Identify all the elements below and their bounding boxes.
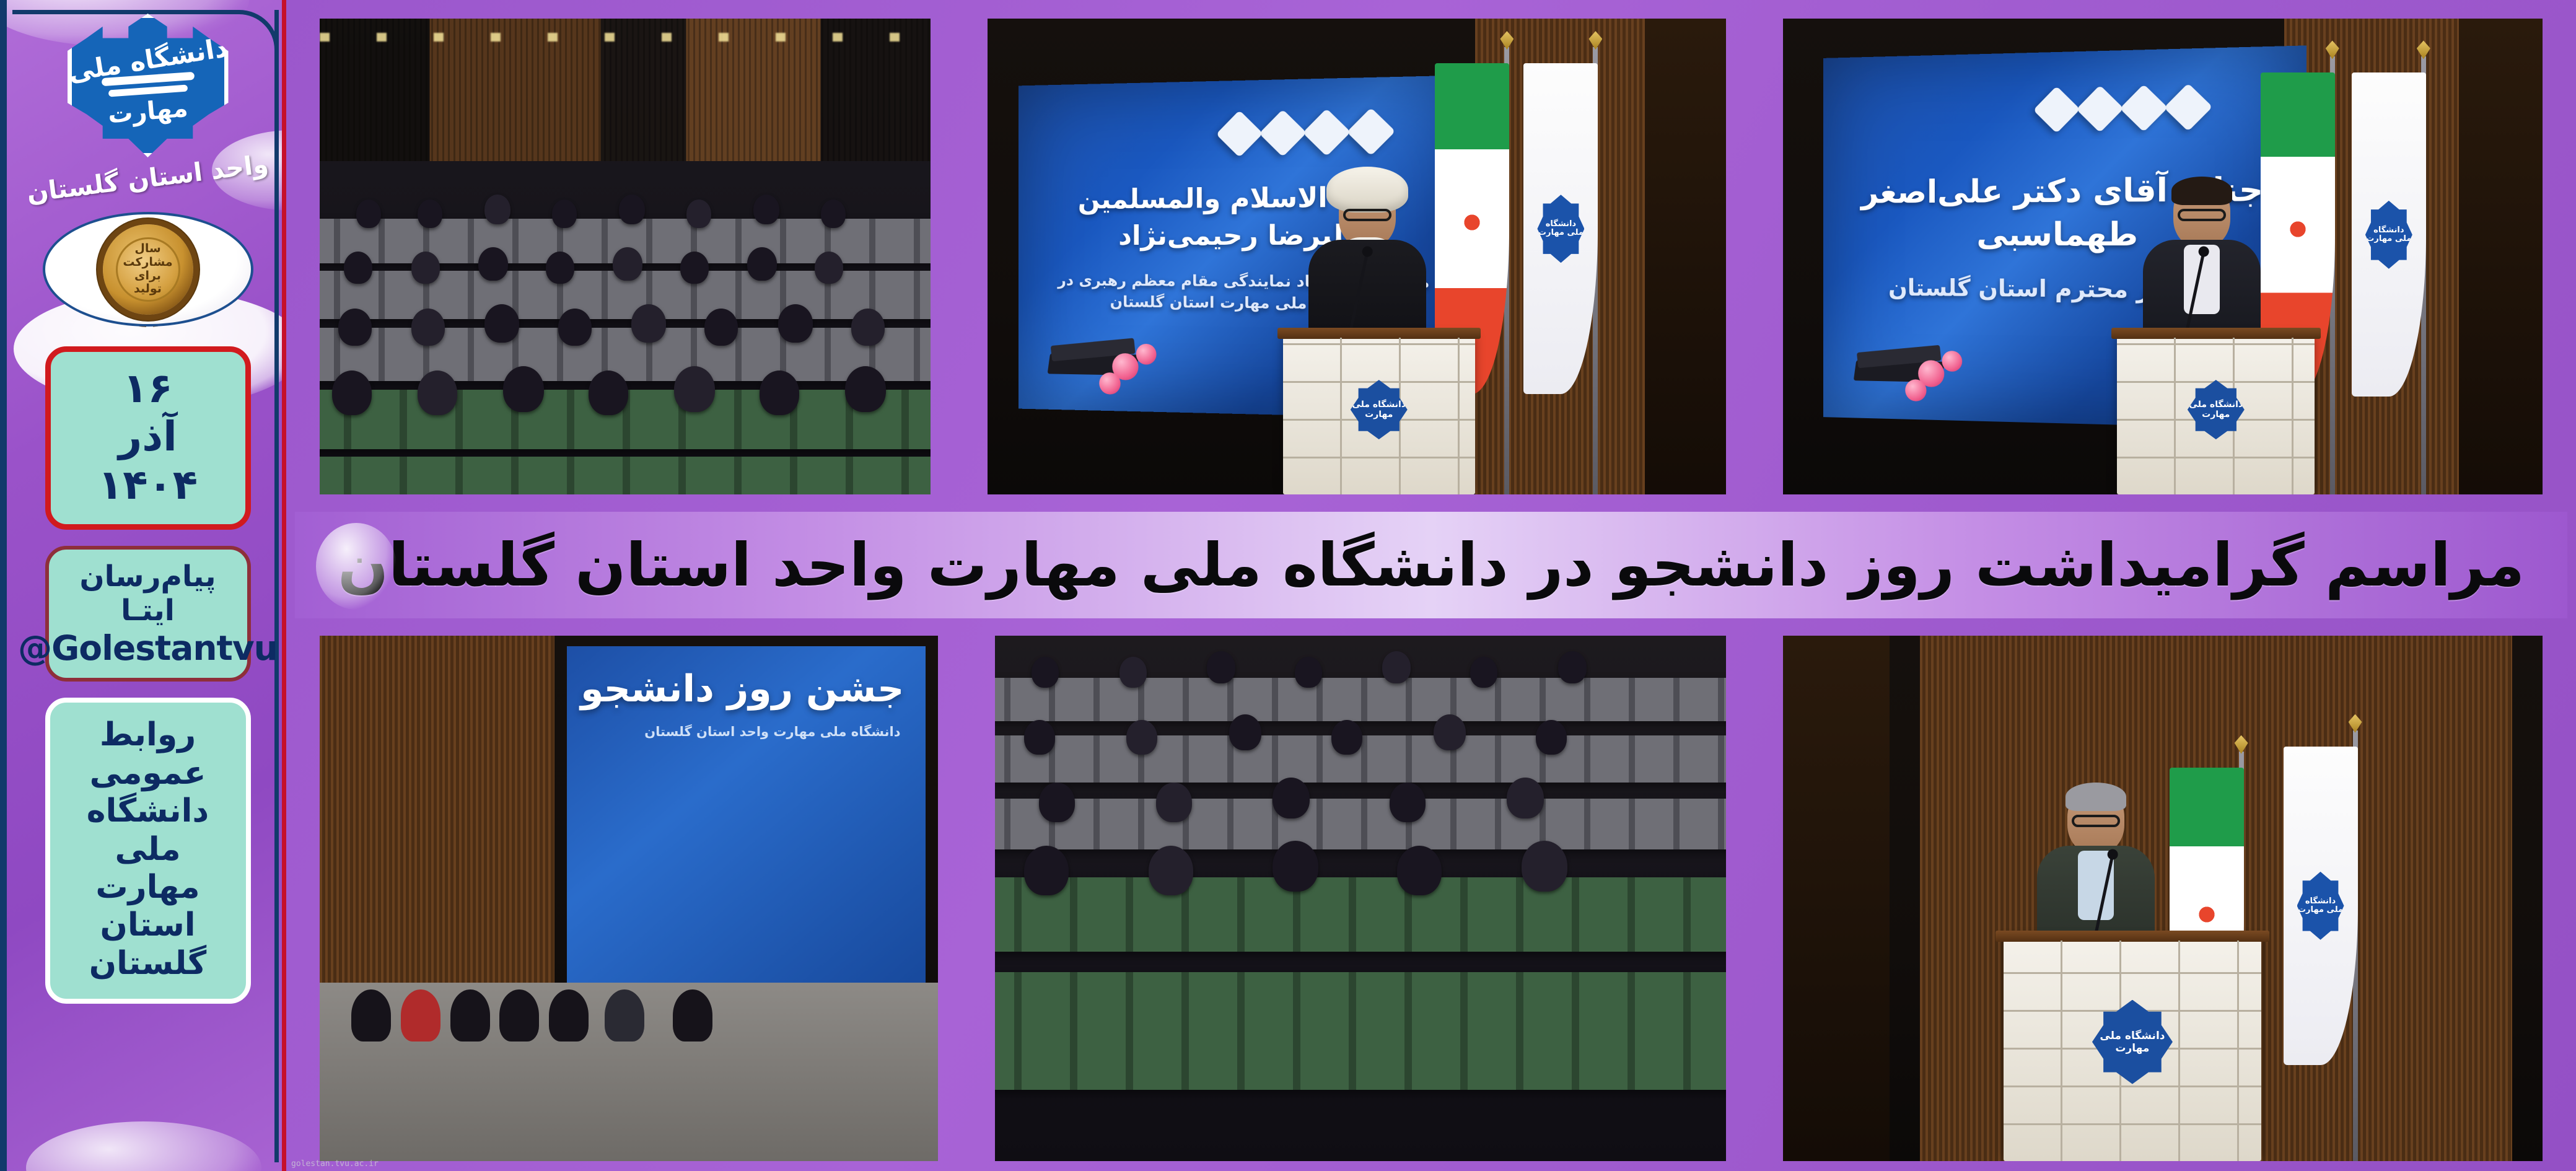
flagpole bbox=[1504, 47, 1509, 494]
sidebar: دانشگاه ملی مهارت واحد استان گلستان سال … bbox=[0, 0, 286, 1171]
title-banner: مراسم گرامیداشت روز دانشجو در دانشگاه مل… bbox=[295, 512, 2567, 618]
podium: دانشگاه ملی مهارت bbox=[2004, 941, 2262, 1161]
university-flag-icon: دانشگاه ملی مهارت bbox=[1523, 63, 1598, 394]
photo-row-top: جناب آقای دکتر علی‌اصغر طهماسبی استاندار… bbox=[295, 9, 2567, 504]
pr-line-3: مهارت استان bbox=[56, 869, 240, 945]
photo-collage: جناب آقای دکتر علی‌اصغر طهماسبی استاندار… bbox=[286, 0, 2576, 1171]
seal-inner-label: سال مشارکت برای تولید bbox=[116, 237, 180, 302]
ceremony-projector-screen: جشن روز دانشجو دانشگاه ملی مهارت واحد اس… bbox=[567, 646, 926, 993]
crest-bottom-label: مهارت bbox=[107, 95, 188, 127]
podium-emblem-icon: دانشگاه ملی مهارت bbox=[2092, 1000, 2173, 1084]
watermark-text: golestan.tvu.ac.ir bbox=[291, 1159, 379, 1169]
wood-panel-dark bbox=[1645, 19, 1726, 494]
podium-emblem-icon: دانشگاه ملی مهارت bbox=[2188, 380, 2245, 439]
photo-cleric-speech: حجت الاسلام والمسلمین علیرضا رحیمی‌نژاد … bbox=[988, 19, 1726, 494]
date-day: ۱۶ bbox=[123, 364, 173, 413]
photo-audience-wide bbox=[320, 19, 931, 494]
photo-speaker-podium: دانشگاه ملی مهارت دانشگاه ملی مهارت bbox=[1783, 636, 2543, 1161]
decorative-bubble bbox=[316, 523, 396, 610]
pr-line-1: روابط عمومی bbox=[56, 716, 240, 792]
university-flag-icon: دانشگاه ملی مهارت bbox=[2284, 747, 2358, 1066]
auditorium-background bbox=[995, 636, 1726, 1161]
podium-emblem-icon: دانشگاه ملی مهارت bbox=[1351, 380, 1408, 439]
diamond-logos-icon bbox=[2040, 90, 2206, 126]
podium: دانشگاه ملی مهارت bbox=[1283, 338, 1475, 494]
flag-emblem-icon: دانشگاه ملی مهارت bbox=[1537, 195, 1584, 263]
flag-emblem-icon: دانشگاه ملی مهارت bbox=[2365, 201, 2412, 269]
graduation-cap-icon bbox=[1855, 344, 1943, 398]
auditorium-background bbox=[320, 19, 931, 494]
seating-rows bbox=[320, 19, 931, 494]
wood-panel-dark bbox=[2459, 19, 2543, 494]
flagpole: دانشگاه ملی مهارت bbox=[2421, 56, 2426, 494]
flagpole: دانشگاه ملی مهارت bbox=[1593, 47, 1598, 494]
flagpole bbox=[2330, 56, 2335, 494]
flag-emblem-icon: دانشگاه ملی مهارت bbox=[2297, 872, 2344, 940]
ceremony-screen-title: جشن روز دانشجو bbox=[580, 667, 904, 711]
branch-label: واحد استان گلستان bbox=[25, 149, 270, 208]
wood-panel-dark bbox=[1783, 636, 1890, 1161]
photo-guests-seated bbox=[995, 636, 1726, 1161]
pr-line-2: دانشگاه ملی bbox=[56, 792, 240, 869]
messenger-handle[interactable]: @Golestantvu bbox=[18, 628, 278, 669]
public-relations-box: روابط عمومی دانشگاه ملی مهارت استان گلست… bbox=[45, 698, 251, 1004]
news-poster: دانشگاه ملی مهارت واحد استان گلستان سال … bbox=[0, 0, 2576, 1171]
podium: دانشگاه ملی مهارت bbox=[2117, 338, 2315, 494]
date-month: آذر bbox=[118, 413, 177, 461]
photo-governor-speech: جناب آقای دکتر علی‌اصغر طهماسبی استاندار… bbox=[1783, 19, 2543, 494]
messenger-label: پیام‌رسان ایتـا bbox=[54, 559, 242, 628]
page-title: مراسم گرامیداشت روز دانشجو در دانشگاه مل… bbox=[338, 530, 2525, 600]
flagpole: دانشگاه ملی مهارت bbox=[2353, 730, 2358, 1161]
production-year-seal: سال مشارکت برای تولید bbox=[43, 212, 253, 327]
university-flag-icon: دانشگاه ملی مهارت bbox=[2352, 72, 2426, 397]
seating-rows bbox=[995, 636, 1726, 1161]
photo-row-bottom: دانشگاه ملی مهارت دانشگاه ملی مهارت bbox=[295, 626, 2567, 1171]
event-date-box: ۱۶ آذر ۱۴۰۴ bbox=[45, 346, 251, 530]
messenger-box[interactable]: پیام‌رسان ایتـا @Golestantvu bbox=[45, 546, 251, 682]
ceremony-screen-subtitle: دانشگاه ملی مهارت واحد استان گلستان bbox=[644, 722, 900, 742]
photo-awards-ceremony: جشن روز دانشجو دانشگاه ملی مهارت واحد اس… bbox=[320, 636, 938, 1161]
gear-seal-icon: سال مشارکت برای تولید bbox=[103, 224, 193, 315]
diamond-logos-icon bbox=[1222, 115, 1388, 151]
date-year: ۱۴۰۴ bbox=[98, 461, 198, 509]
university-crest-logo: دانشگاه ملی مهارت bbox=[68, 14, 229, 157]
graduation-cap-icon bbox=[1048, 338, 1137, 392]
pr-line-4: گلستان bbox=[89, 945, 207, 983]
